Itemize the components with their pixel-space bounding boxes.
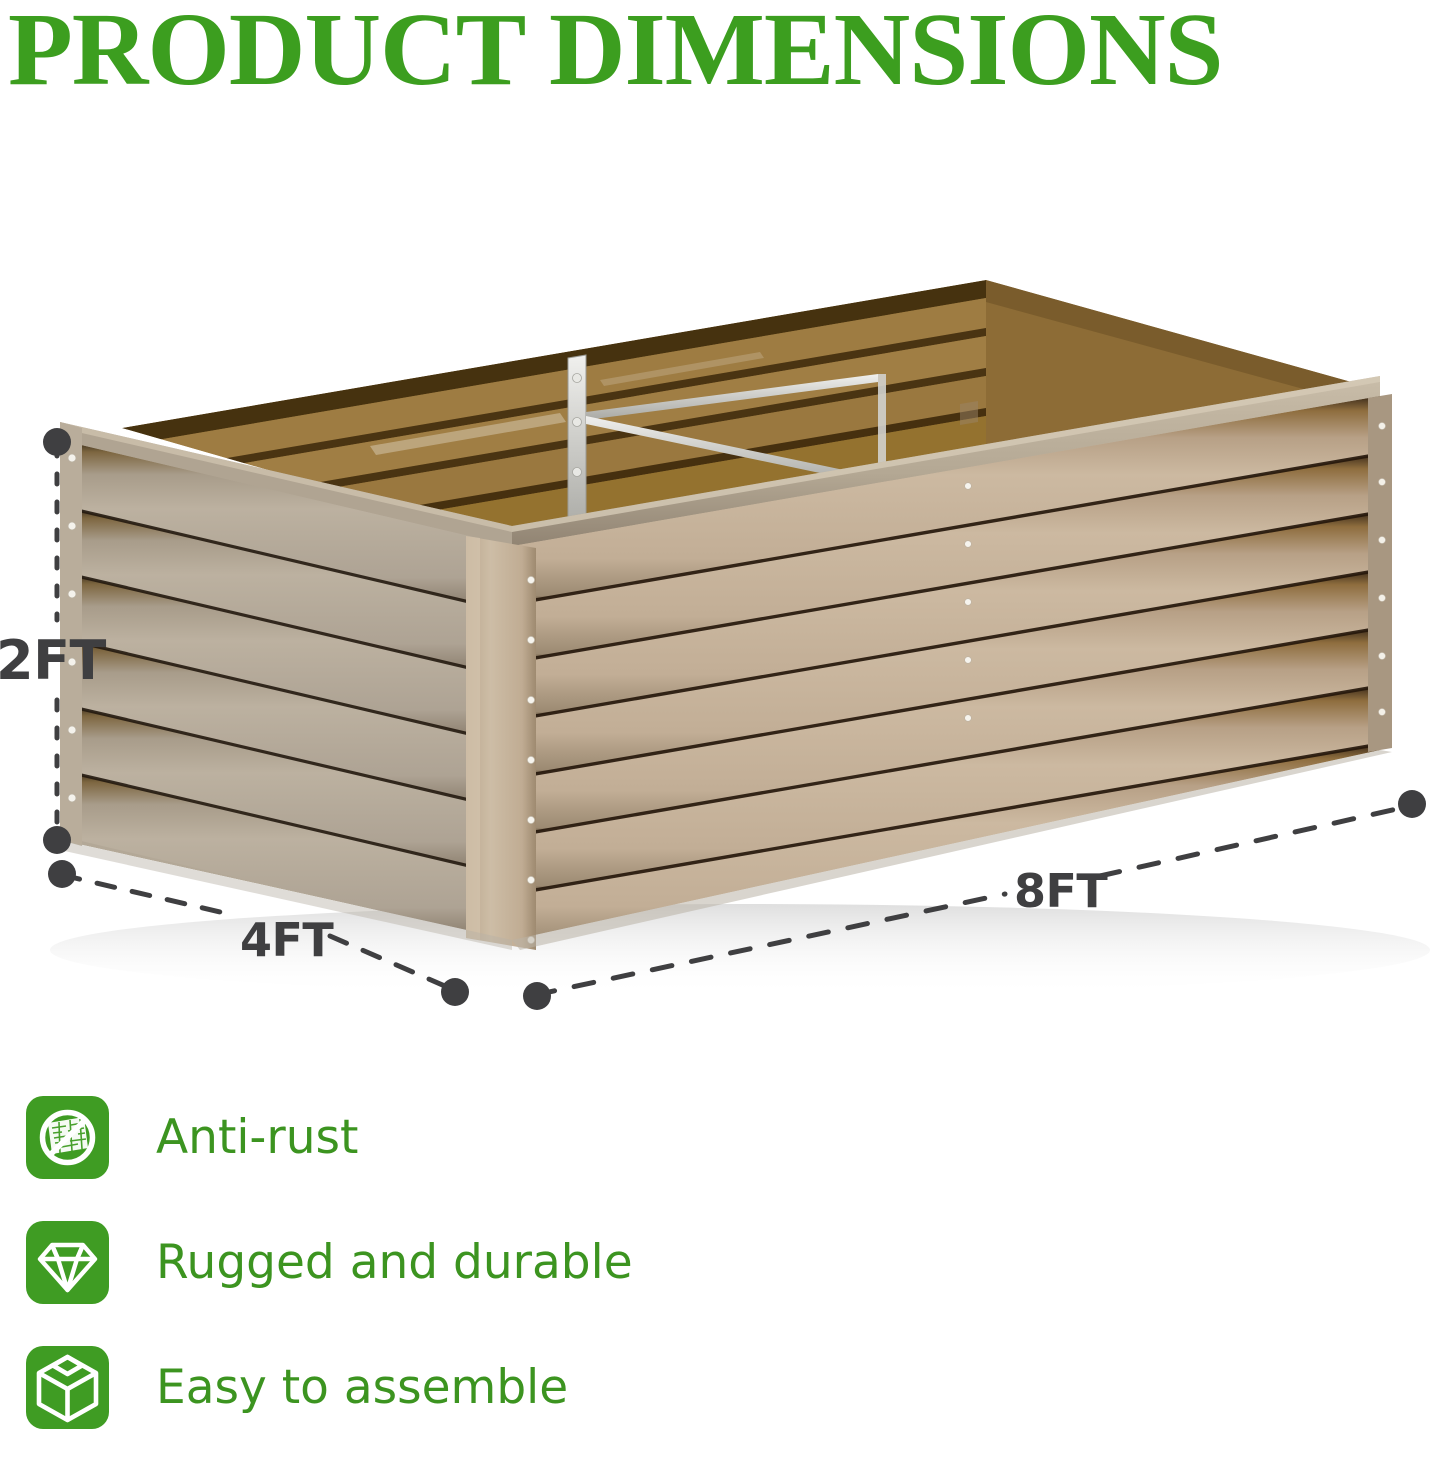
feature-label-anti-rust: Anti-rust — [156, 1100, 358, 1176]
feature-item-anti-rust: Anti-rust — [26, 1096, 926, 1221]
width-dimension-label: 4FT — [240, 913, 333, 967]
infographic-page: PRODUCT DIMENSIONS — [0, 0, 1445, 1437]
feature-list: Anti-rust Rugged and durable — [26, 1096, 926, 1471]
product-illustration — [0, 250, 1445, 1050]
height-dimension-label: 2FT — [0, 629, 106, 692]
length-dimension-label: 8FT — [1014, 864, 1107, 918]
feature-label-assemble: Easy to assemble — [156, 1350, 568, 1426]
cube-box-icon — [26, 1346, 109, 1429]
feature-label-rugged: Rugged and durable — [156, 1225, 633, 1301]
length-dim-line-right — [1100, 806, 1410, 876]
diamond-icon — [26, 1221, 109, 1304]
feature-item-assemble: Easy to assemble — [26, 1346, 926, 1471]
page-title: PRODUCT DIMENSIONS — [8, 0, 1445, 106]
feature-item-rugged: Rugged and durable — [26, 1221, 926, 1346]
no-rust-icon — [26, 1096, 109, 1179]
bed-right-corner-trim — [1368, 394, 1392, 752]
